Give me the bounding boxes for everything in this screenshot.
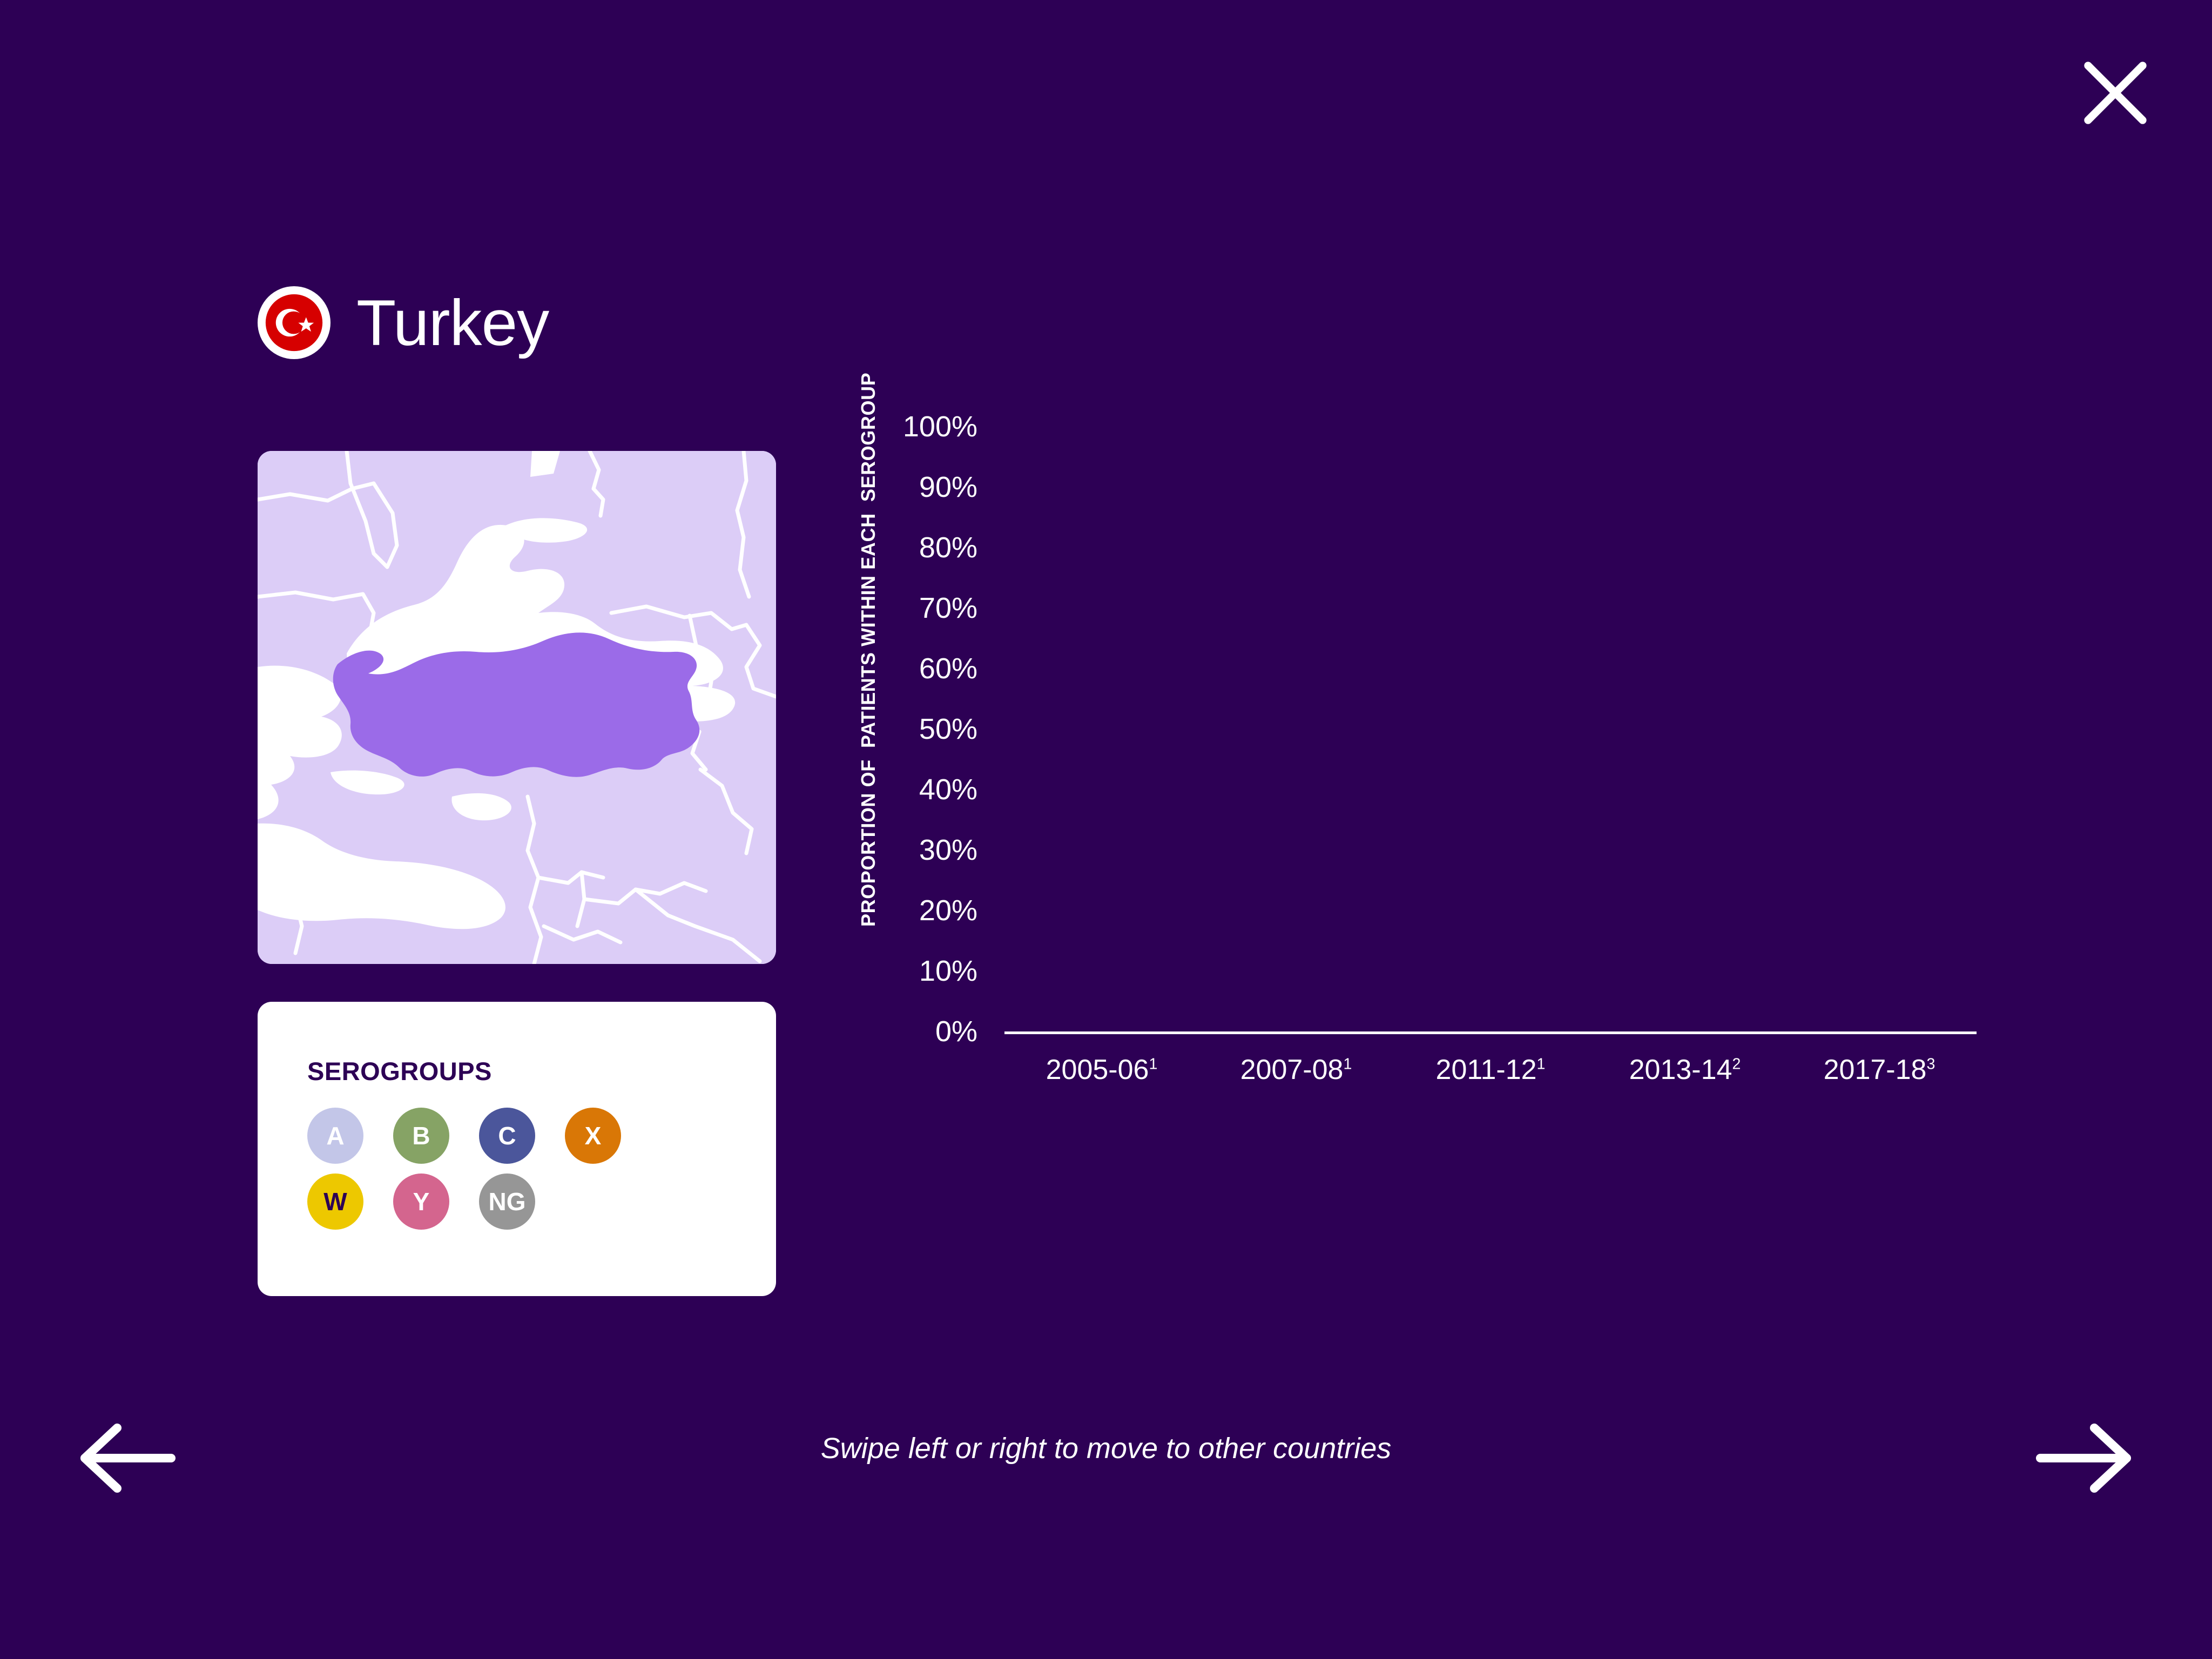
country-header: Turkey bbox=[258, 286, 549, 359]
serogroup-chip-c[interactable]: C bbox=[479, 1108, 535, 1164]
y-axis-tick-label: 80% bbox=[869, 533, 977, 562]
y-axis-tick-label: 60% bbox=[869, 654, 977, 683]
y-axis-tick-label: 90% bbox=[869, 473, 977, 502]
serogroup-chip-a[interactable]: A bbox=[307, 1108, 363, 1164]
swipe-hint: Swipe left or right to move to other cou… bbox=[0, 1434, 2212, 1463]
y-axis-tick-label: 10% bbox=[869, 956, 977, 986]
serogroup-row-1: A B C X bbox=[307, 1108, 776, 1164]
x-axis-tick-label: 2007-081 bbox=[1240, 1056, 1352, 1084]
serogroup-chip-x[interactable]: X bbox=[565, 1108, 621, 1164]
arrow-right-icon bbox=[2036, 1420, 2139, 1496]
y-axis-tick-label: 100% bbox=[869, 412, 977, 441]
close-button[interactable] bbox=[2073, 50, 2158, 136]
serogroup-chip-w[interactable]: W bbox=[307, 1174, 363, 1230]
y-axis-tick-label: 30% bbox=[869, 835, 977, 865]
y-axis-tick-label: 0% bbox=[869, 1017, 977, 1046]
serogroups-title: SEROGROUPS bbox=[307, 1058, 776, 1084]
x-axis-line bbox=[1004, 1031, 1977, 1034]
y-axis-tick-label: 40% bbox=[869, 775, 977, 804]
country-map[interactable] bbox=[258, 451, 776, 964]
page-title: Turkey bbox=[356, 291, 549, 355]
plot-region bbox=[1004, 427, 1977, 1031]
region-map bbox=[258, 451, 776, 964]
serogroup-row-2: W Y NG bbox=[307, 1174, 776, 1230]
close-icon bbox=[2073, 50, 2158, 136]
serogroup-chip-b[interactable]: B bbox=[393, 1108, 449, 1164]
x-axis-tick-label: 2013-142 bbox=[1629, 1056, 1741, 1084]
y-axis-tick-label: 20% bbox=[869, 896, 977, 925]
x-axis-tick-label: 2005-061 bbox=[1046, 1056, 1158, 1084]
serogroup-proportion-chart: PROPORTION OF PATIENTS WITHIN EACH SEROG… bbox=[842, 427, 1977, 1301]
y-axis-tick-label: 70% bbox=[869, 594, 977, 623]
next-country-button[interactable] bbox=[2036, 1420, 2139, 1496]
y-axis-tick-label: 50% bbox=[869, 714, 977, 744]
y-axis-tick-labels: 100%90%80%70%60%50%40%30%20%10%0% bbox=[869, 427, 977, 1031]
x-axis-tick-label: 2017-183 bbox=[1824, 1056, 1935, 1084]
x-axis-tick-labels: 2005-0612007-0812011-1212013-1422017-183 bbox=[1004, 1056, 1977, 1104]
serogroups-legend-card: SEROGROUPS A B C X W Y NG bbox=[258, 1002, 776, 1296]
country-detail-screen: Turkey bbox=[0, 0, 2212, 1659]
serogroup-chip-y[interactable]: Y bbox=[393, 1174, 449, 1230]
serogroup-chip-ng[interactable]: NG bbox=[479, 1174, 535, 1230]
turkey-flag-icon bbox=[258, 286, 331, 359]
x-axis-tick-label: 2011-121 bbox=[1436, 1056, 1546, 1084]
